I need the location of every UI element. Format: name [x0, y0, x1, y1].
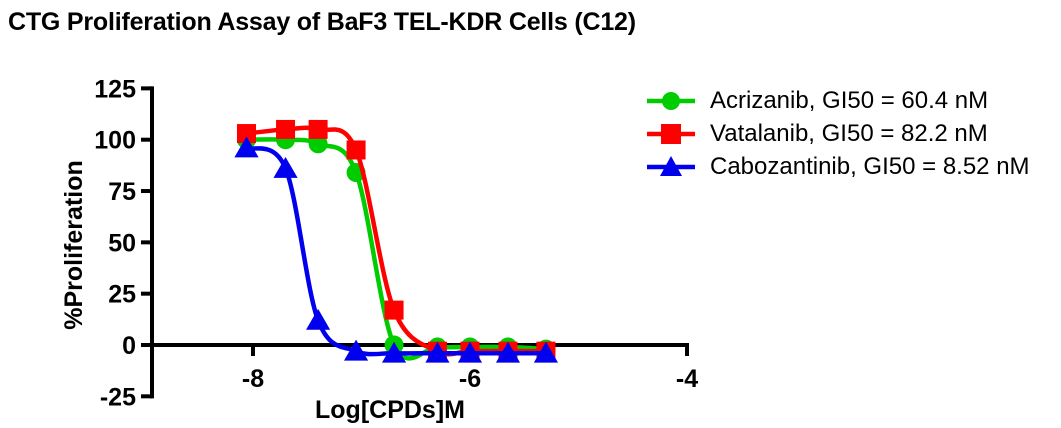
- legend-item[interactable]: Cabozantinib, GI50 = 8.52 nM: [645, 150, 1055, 183]
- chart-figure: CTG Proliferation Assay of BaF3 TEL-KDR …: [0, 0, 1061, 428]
- chart-legend: Acrizanib, GI50 = 60.4 nM Vatalanib, GI5…: [645, 84, 1055, 183]
- y-axis-tick-label: 0: [122, 332, 136, 360]
- legend-label-cabozantinib: Cabozantinib, GI50 = 8.52 nM: [710, 155, 1030, 179]
- legend-marker-square-icon: [645, 121, 697, 147]
- data-point-marker: [385, 301, 404, 320]
- legend-marker-triangle-icon: [645, 154, 697, 180]
- data-series: [234, 136, 558, 362]
- legend-label-acrizanib: Acrizanib, GI50 = 60.4 nM: [710, 89, 988, 113]
- y-axis-tick-label: 25: [108, 281, 136, 309]
- legend-label-vatalanib: Vatalanib, GI50 = 82.2 nM: [710, 122, 988, 146]
- y-axis-tick-label: 75: [108, 178, 136, 206]
- series-line: [246, 128, 545, 354]
- data-point-marker: [347, 140, 366, 159]
- legend-item[interactable]: Acrizanib, GI50 = 60.4 nM: [645, 84, 1055, 117]
- series-line: [246, 148, 545, 354]
- y-axis-tick-label: -25: [100, 383, 136, 411]
- x-axis-tick-label: -4: [676, 365, 698, 393]
- legend-item[interactable]: Vatalanib, GI50 = 82.2 nM: [645, 117, 1055, 150]
- data-series: [237, 120, 555, 361]
- y-axis-title: %Proliferation: [60, 160, 88, 329]
- x-axis-title: Log[CPDs]M: [315, 396, 465, 424]
- data-point-marker: [306, 309, 330, 330]
- legend-marker-circle-icon: [645, 88, 697, 114]
- data-point-marker: [309, 120, 328, 139]
- data-point-marker: [273, 157, 297, 178]
- x-axis-tick-label: -8: [242, 365, 264, 393]
- plot-area: -250255075100125-8-6-4 Log[CPDs]M %Proli…: [0, 0, 1061, 428]
- data-series-group: [234, 120, 558, 363]
- y-axis-tick-label: 50: [108, 229, 136, 257]
- y-axis-tick-label: 125: [94, 75, 136, 103]
- data-point-marker: [276, 120, 295, 139]
- y-axis-tick-label: 100: [94, 127, 136, 155]
- x-axis-tick-label: -6: [459, 365, 481, 393]
